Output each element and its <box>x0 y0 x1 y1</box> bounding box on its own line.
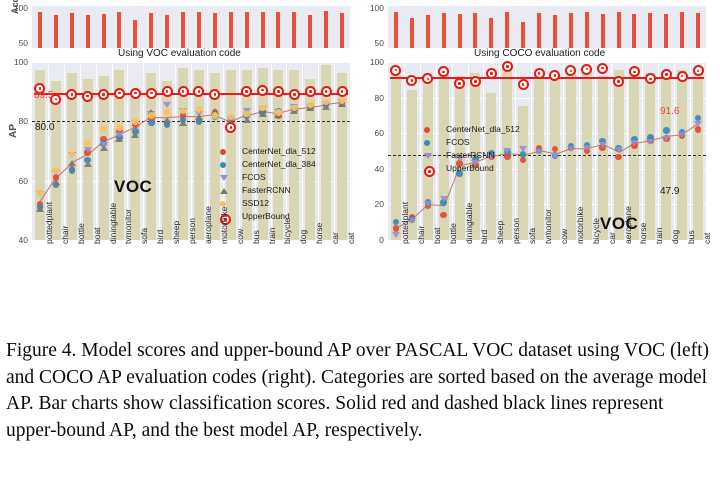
acc-bar <box>521 22 525 48</box>
data-point-marker <box>503 148 511 154</box>
acc-bar <box>617 12 621 48</box>
acc-bar <box>394 12 398 48</box>
data-point-marker <box>243 111 250 118</box>
left-panel-title: Using VOC evaluation code <box>118 48 241 59</box>
data-point-marker <box>52 179 60 185</box>
data-point-marker <box>662 136 670 142</box>
data-point-marker <box>615 147 623 153</box>
right-acc-ytick-50: 50 <box>358 38 384 48</box>
data-point-marker <box>100 145 108 151</box>
ap-ytick-label: 40 <box>2 235 28 245</box>
legend-label: UpperBound <box>446 163 494 173</box>
ap-xtick-label: aeroplane <box>203 206 213 244</box>
gridline-vertical <box>420 62 421 240</box>
upper-bound-marker <box>661 69 672 80</box>
gridline-vertical <box>191 62 192 240</box>
category-bar <box>645 73 655 240</box>
data-point-marker <box>131 132 139 138</box>
data-point-marker <box>53 167 60 174</box>
upper-bound-marker <box>289 89 300 100</box>
upper-bound-marker <box>82 91 93 102</box>
gridline-vertical <box>515 62 516 240</box>
upper-bound-marker <box>130 88 141 99</box>
upper-bound-marker <box>321 86 332 97</box>
ap-xtick-label: diningtable <box>464 203 474 244</box>
gridline-vertical <box>159 62 160 240</box>
upper-bound-marker <box>693 65 704 76</box>
legend-label: FCOS <box>242 172 266 182</box>
ap-xtick-label: motorbike <box>219 207 229 244</box>
acc-bar <box>213 13 217 48</box>
acc-bar <box>245 12 249 48</box>
upper-bound-marker <box>114 88 125 99</box>
data-point-marker <box>195 114 203 120</box>
left-acc-ytick-50: 50 <box>2 38 28 48</box>
legend-label: CenterNet_dla_512 <box>242 146 316 156</box>
gridline-vertical <box>642 62 643 240</box>
ap-xtick-label: bus <box>251 230 261 244</box>
left-best-model-label: 80.0 <box>35 122 54 133</box>
ap-xtick-label: cat <box>702 233 712 244</box>
category-bar <box>693 73 703 240</box>
data-point-marker <box>695 126 702 133</box>
data-point-marker <box>583 145 591 151</box>
data-point-marker <box>440 196 448 202</box>
data-point-marker <box>84 161 92 167</box>
data-point-marker <box>663 127 670 134</box>
data-point-marker <box>212 112 219 119</box>
gridline-vertical <box>658 62 659 240</box>
data-point-marker <box>163 102 171 108</box>
legend-label: FCOS <box>446 137 470 147</box>
ap-ytick-label: 80 <box>358 93 384 103</box>
ap-xtick-label: bird <box>479 230 489 244</box>
acc-bar <box>553 15 557 48</box>
upper-bound-marker <box>305 86 316 97</box>
acc-bar <box>324 11 328 48</box>
data-point-marker <box>36 206 44 212</box>
data-point-marker <box>519 146 527 152</box>
ap-xtick-label: diningtable <box>108 203 118 244</box>
data-point-marker <box>148 120 155 127</box>
data-point-marker <box>148 112 155 119</box>
data-point-marker <box>339 97 346 104</box>
acc-bar <box>165 15 169 48</box>
ap-xtick-label: pottedplant <box>44 202 54 244</box>
data-point-marker <box>69 167 76 174</box>
gridline-vertical <box>531 62 532 240</box>
gridline-horizontal <box>388 98 706 99</box>
acc-bar <box>569 13 573 48</box>
ap-xtick-label: bicycle <box>282 218 292 244</box>
upper-bound-marker <box>502 61 513 72</box>
gridline-vertical <box>499 62 500 240</box>
acc-bar <box>648 13 652 48</box>
upper-bound-marker <box>677 71 688 82</box>
acc-bar <box>458 14 462 48</box>
data-point-marker <box>163 117 171 123</box>
gridline-horizontal <box>388 169 706 170</box>
data-point-marker <box>694 121 702 127</box>
legend-label: FasterRCNN <box>242 185 291 195</box>
ap-ytick-label: 100 <box>358 57 384 67</box>
data-point-marker <box>392 232 400 238</box>
gridline-vertical <box>175 62 176 240</box>
gridline-vertical <box>239 62 240 240</box>
best-model-dashed-line <box>388 155 706 156</box>
data-point-marker <box>307 102 314 109</box>
gridline-vertical <box>436 62 437 240</box>
data-point-marker <box>424 201 432 207</box>
acc-bar <box>102 14 106 48</box>
acc-bar <box>585 12 589 48</box>
ap-xtick-label: sofa <box>527 228 537 244</box>
data-point-marker <box>259 105 266 112</box>
ap-xtick-label: tvmonitor <box>123 209 133 244</box>
gridline-horizontal <box>32 62 350 63</box>
ap-xtick-label: horse <box>638 223 648 244</box>
ap-ytick-label: 60 <box>358 128 384 138</box>
upper-bound-marker <box>162 86 173 97</box>
upper-bound-marker <box>518 79 529 90</box>
acc-bar <box>261 12 265 48</box>
category-bar <box>423 79 433 240</box>
data-point-marker <box>646 139 654 145</box>
upper-bound-marker <box>178 86 189 97</box>
acc-bar <box>505 12 509 48</box>
ap-ytick-label: 100 <box>2 57 28 67</box>
acc-bar <box>680 12 684 48</box>
gridline-vertical <box>143 62 144 240</box>
acc-bar <box>410 18 414 48</box>
upper-bound-marker <box>534 68 545 79</box>
ap-xtick-label: boat <box>432 227 442 244</box>
upper-bound-solid-line <box>390 77 704 79</box>
left-upper-bound-label: 89.5 <box>34 90 53 101</box>
acc-bar <box>696 13 700 48</box>
left-watermark: VOC <box>114 177 152 197</box>
gridline-vertical <box>96 62 97 240</box>
left-acc-plot-background <box>32 6 350 48</box>
acc-bar <box>54 15 58 48</box>
legend-dot-icon <box>220 162 226 168</box>
acc-bar <box>489 18 493 48</box>
gridline-vertical <box>595 62 596 240</box>
ap-ytick-label: 0 <box>358 235 384 245</box>
acc-bar <box>632 14 636 48</box>
data-point-marker <box>84 147 92 153</box>
ap-xtick-label: cow <box>235 229 245 244</box>
legend-label: CenterNet_dla_512 <box>446 124 520 134</box>
ap-xtick-label: cow <box>559 229 569 244</box>
ap-xtick-label: bicycle <box>591 218 601 244</box>
data-point-marker <box>132 118 139 125</box>
upper-bound-marker <box>257 85 268 96</box>
legend-label: SSD12 <box>242 198 269 208</box>
data-point-marker <box>291 105 298 112</box>
acc-bar <box>70 13 74 48</box>
ap-xtick-label: tvmonitor <box>543 209 553 244</box>
gridline-vertical <box>674 62 675 240</box>
ap-xtick-label: bottle <box>448 223 458 244</box>
right-panel-title: Using COCO evaluation code <box>474 48 605 59</box>
data-point-marker <box>567 146 575 152</box>
gridline-horizontal <box>32 181 350 182</box>
gridline-vertical <box>80 62 81 240</box>
data-point-marker <box>100 126 107 133</box>
legend-dot-icon <box>424 127 430 133</box>
data-point-marker <box>678 132 686 138</box>
upper-bound-marker <box>486 68 497 79</box>
ap-xtick-label: sheep <box>171 221 181 244</box>
acc-bar <box>133 20 137 48</box>
left-ap-axis-label: AP <box>8 124 19 138</box>
acc-bar <box>473 13 477 48</box>
upper-bound-marker <box>581 64 592 75</box>
acc-bar <box>86 15 90 48</box>
data-point-marker <box>68 160 76 166</box>
legend-dot-icon <box>220 149 226 155</box>
ap-ytick-label: 20 <box>358 199 384 209</box>
upper-bound-solid-line <box>34 93 348 95</box>
gridline-vertical <box>318 62 319 240</box>
acc-bar <box>601 14 605 48</box>
best-model-dashed-line <box>32 121 350 122</box>
left-acc-panel <box>32 6 350 48</box>
data-point-marker <box>228 114 235 121</box>
figure-4: 100 50 Acc Using VOC evaluation code VOC… <box>0 0 720 487</box>
left-ap-panel: VOC 89.5 80.0 CenterNet_dla_512CenterNet… <box>32 62 350 240</box>
acc-bar <box>537 13 541 48</box>
upper-bound-marker <box>225 122 236 133</box>
legend-upperbound-icon <box>424 166 435 177</box>
acc-bar <box>308 15 312 48</box>
acc-bar <box>276 12 280 48</box>
ap-xtick-label: sheep <box>495 221 505 244</box>
left-acc-axis-label: Acc <box>10 0 20 14</box>
acc-bar <box>664 14 668 48</box>
data-point-marker <box>115 136 123 142</box>
ap-xtick-label: aeroplane <box>623 206 633 244</box>
gridline-vertical <box>64 62 65 240</box>
data-point-marker <box>275 109 282 116</box>
data-point-marker <box>164 109 171 116</box>
acc-bar <box>38 12 42 48</box>
data-point-marker <box>196 106 203 113</box>
right-acc-ytick-100: 100 <box>358 3 384 13</box>
ap-xtick-label: chair <box>416 226 426 244</box>
ap-xtick-label: train <box>267 227 277 244</box>
data-point-marker <box>37 189 44 196</box>
ap-xtick-label: car <box>607 232 617 244</box>
ap-xtick-label: boat <box>92 227 102 244</box>
acc-bar <box>181 12 185 48</box>
data-point-marker <box>69 151 76 158</box>
ap-xtick-label: bird <box>155 230 165 244</box>
upper-bound-marker <box>597 63 608 74</box>
ap-ytick-label: 60 <box>2 176 28 186</box>
ap-xtick-label: horse <box>314 223 324 244</box>
legend-triangle-icon <box>220 175 228 181</box>
data-point-marker <box>259 111 267 117</box>
legend-label: FasterRCNN <box>446 150 495 160</box>
data-point-marker <box>179 120 187 126</box>
data-point-marker <box>599 142 607 148</box>
gridline-vertical <box>690 62 691 240</box>
ap-xtick-label: car <box>330 232 340 244</box>
data-point-marker <box>551 153 559 159</box>
right-upper-bound-label: 91.6 <box>660 106 679 117</box>
acc-bar <box>340 13 344 48</box>
acc-bar <box>426 15 430 48</box>
upper-bound-marker <box>337 86 348 97</box>
gridline-vertical <box>334 62 335 240</box>
ap-xtick-label: dog <box>298 230 308 244</box>
upper-bound-marker <box>146 88 157 99</box>
ap-xtick-label: chair <box>60 226 70 244</box>
figure-caption: Figure 4. Model scores and upper-bound A… <box>6 338 714 444</box>
ap-xtick-label: sofa <box>139 228 149 244</box>
data-point-marker <box>116 124 123 131</box>
data-point-marker <box>243 117 251 123</box>
upper-bound-marker <box>390 65 401 76</box>
ap-xtick-label: bus <box>686 230 696 244</box>
right-acc-panel <box>388 6 706 48</box>
data-point-marker <box>535 149 543 155</box>
gridline-horizontal <box>388 62 706 63</box>
legend-label: CenterNet_dla_384 <box>242 159 316 169</box>
legend-dot-icon <box>424 140 430 146</box>
category-bar <box>661 76 671 240</box>
ap-xtick-label: person <box>187 218 197 244</box>
upper-bound-marker <box>470 76 481 87</box>
ap-xtick-label: pottedplant <box>400 202 410 244</box>
ap-xtick-label: dog <box>670 230 680 244</box>
acc-bar <box>117 12 121 48</box>
ap-xtick-label: person <box>511 218 521 244</box>
legend-triangle-icon <box>424 153 432 159</box>
upper-bound-marker <box>454 78 465 89</box>
ap-xtick-label: cat <box>346 233 356 244</box>
acc-bar <box>197 12 201 48</box>
acc-bar <box>149 13 153 48</box>
ap-xtick-label: bottle <box>76 223 86 244</box>
data-point-marker <box>630 140 638 146</box>
right-acc-plot-background <box>388 6 706 48</box>
gridline-horizontal <box>388 133 706 134</box>
legend-triangle-icon <box>220 188 228 194</box>
ap-xtick-label: train <box>654 227 664 244</box>
data-point-marker <box>84 140 91 147</box>
ap-xtick-label: motorbike <box>575 207 585 244</box>
acc-bar <box>442 13 446 48</box>
acc-bar <box>292 12 296 48</box>
acc-bar <box>229 12 233 48</box>
ap-ytick-label: 40 <box>358 164 384 174</box>
right-best-model-label: 47.9 <box>660 186 679 197</box>
